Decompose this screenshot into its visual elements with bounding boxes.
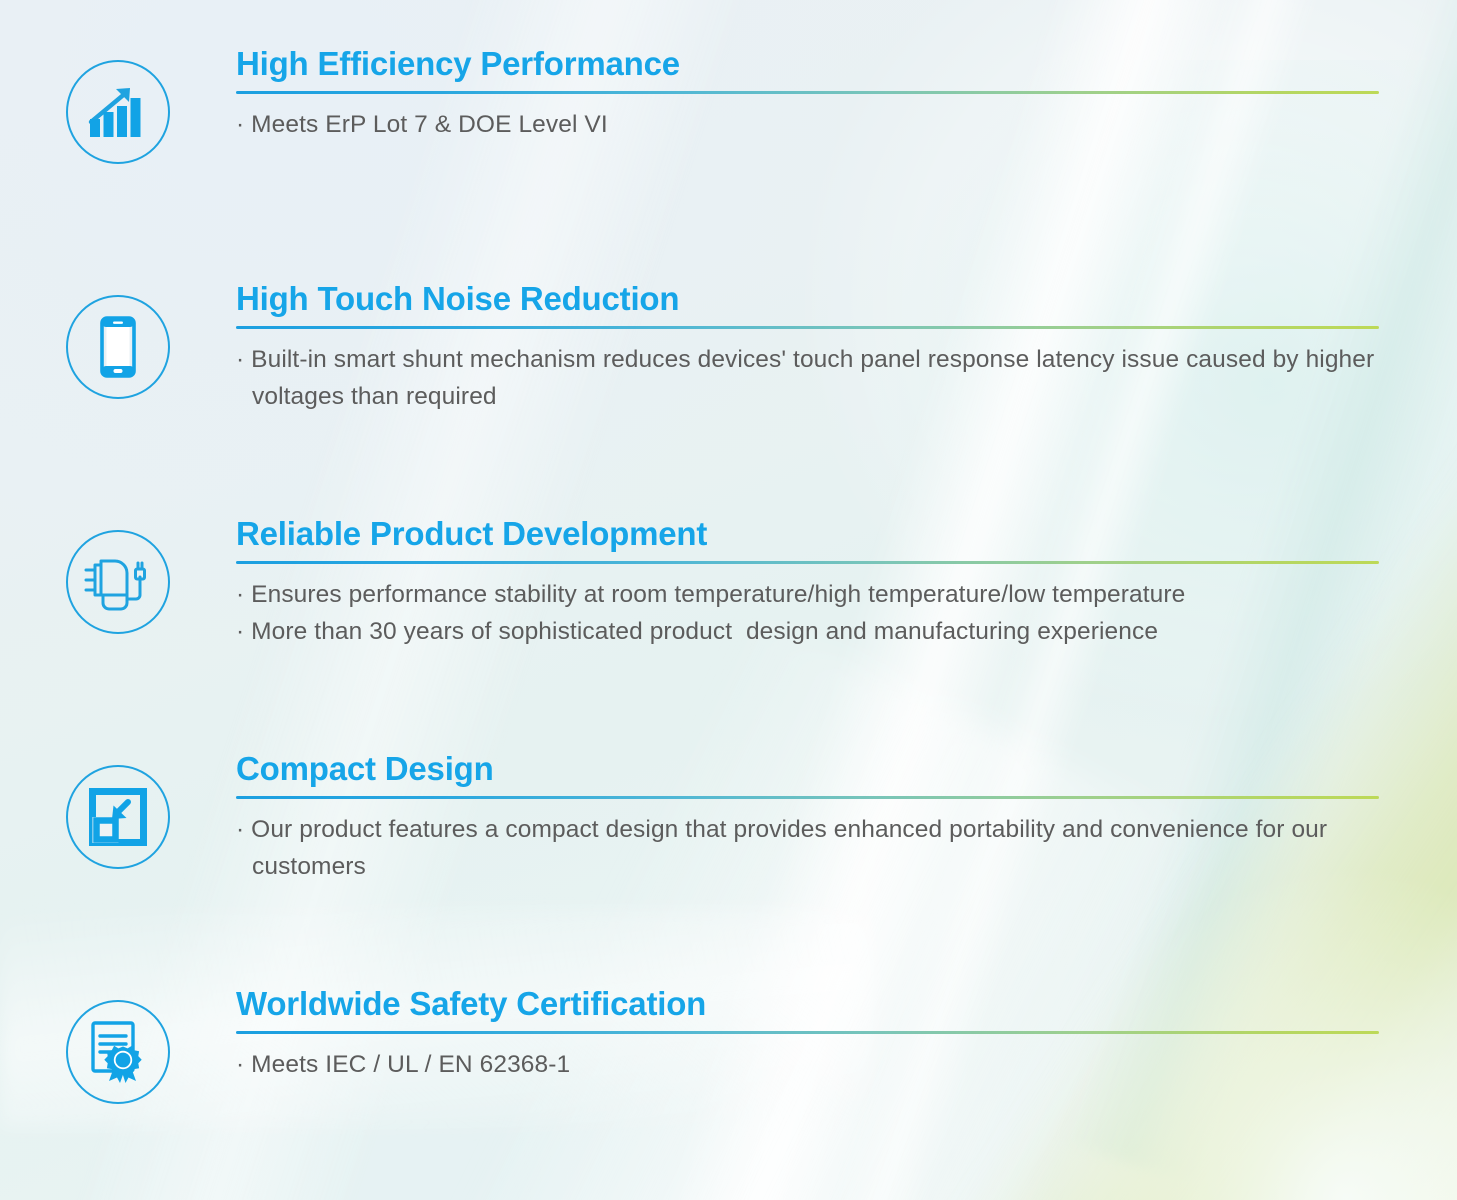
feature-description: · Built-in smart shunt mechanism reduces… [236, 341, 1379, 415]
feature-description-line: · Our product features a compact design … [236, 811, 1379, 885]
feature-item-worldwide-safety-certification: Worldwide Safety Certification · Meets I… [0, 986, 1457, 1104]
feature-divider [236, 1031, 1379, 1034]
certificate-seal-icon [66, 1000, 170, 1104]
feature-description-line: · Built-in smart shunt mechanism reduces… [236, 341, 1379, 415]
feature-divider [236, 326, 1379, 329]
feature-icon-container [0, 751, 236, 869]
feature-description-line: · More than 30 years of sophisticated pr… [236, 613, 1379, 650]
feature-description-line: · Meets IEC / UL / EN 62368-1 [236, 1046, 1379, 1083]
feature-description: · Our product features a compact design … [236, 811, 1379, 885]
feature-title: High Touch Noise Reduction [236, 281, 1379, 318]
feature-title: Compact Design [236, 751, 1379, 788]
feature-item-high-touch-noise-reduction: High Touch Noise Reduction · Built-in sm… [0, 281, 1457, 415]
feature-list: High Efficiency Performance · Meets ErP … [0, 0, 1457, 1200]
feature-description: · Meets ErP Lot 7 & DOE Level VI [236, 106, 1379, 143]
feature-title: High Efficiency Performance [236, 46, 1379, 83]
bar-chart-growth-icon [66, 60, 170, 164]
feature-title: Reliable Product Development [236, 516, 1379, 553]
feature-divider [236, 796, 1379, 799]
feature-item-high-efficiency-performance: High Efficiency Performance · Meets ErP … [0, 46, 1457, 164]
smartphone-icon [66, 295, 170, 399]
feature-divider [236, 561, 1379, 564]
feature-body: Worldwide Safety Certification · Meets I… [236, 986, 1457, 1083]
feature-description: · Meets IEC / UL / EN 62368-1 [236, 1046, 1379, 1083]
feature-item-compact-design: Compact Design · Our product features a … [0, 751, 1457, 885]
feature-icon-container [0, 46, 236, 164]
feature-body: High Efficiency Performance · Meets ErP … [236, 46, 1457, 143]
feature-icon-container [0, 986, 236, 1104]
feature-item-reliable-product-development: Reliable Product Development · Ensures p… [0, 516, 1457, 650]
compact-resize-icon [66, 765, 170, 869]
feature-description-line: · Meets ErP Lot 7 & DOE Level VI [236, 106, 1379, 143]
feature-divider [236, 91, 1379, 94]
feature-body: High Touch Noise Reduction · Built-in sm… [236, 281, 1457, 415]
feature-body: Compact Design · Our product features a … [236, 751, 1457, 885]
feature-icon-container [0, 281, 236, 399]
feature-description-line: · Ensures performance stability at room … [236, 576, 1379, 613]
power-adapter-icon [66, 530, 170, 634]
feature-title: Worldwide Safety Certification [236, 986, 1379, 1023]
feature-icon-container [0, 516, 236, 634]
feature-body: Reliable Product Development · Ensures p… [236, 516, 1457, 650]
feature-description: · Ensures performance stability at room … [236, 576, 1379, 650]
